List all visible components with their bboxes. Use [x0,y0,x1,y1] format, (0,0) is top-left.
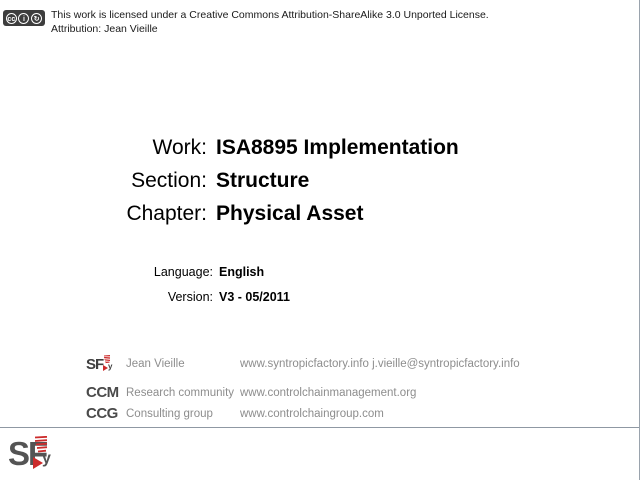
ccg-wordmark: CCG [86,405,118,422]
syntropic-factory-logo: SF y [8,437,56,475]
section-label: Section: [0,169,216,193]
title-block: Work: ISA8895 Implementation Section: St… [0,136,640,235]
sf-logo-y: y [108,362,112,371]
creative-commons-badge: cc i BY ↻ SA [3,10,45,26]
version-value: V3 - 05/2011 [219,290,290,304]
credit-link-ccg[interactable]: www.controlchaingroup.com [240,408,384,420]
cc-icon: cc [6,13,17,24]
sf-logo-small-wrapper: SF y [86,355,120,373]
ccm-wordmark: CCM [86,384,119,401]
sa-icon: ↻ SA [31,13,42,24]
credit-name-jean-vieille: Jean Vieille [120,358,240,370]
license-line-2: Attribution: Jean Vieille [51,22,489,36]
sa-icon-glyph: ↻ [34,16,40,23]
version-label: Version: [0,290,219,304]
ccm-wordmark-wrapper: CCM [86,384,120,401]
meta-block: Language: English Version: V3 - 05/2011 [0,265,640,315]
language-label: Language: [0,265,219,279]
title-row-work: Work: ISA8895 Implementation [0,136,640,160]
license-notice: cc i BY ↻ SA This work is licensed under… [3,8,603,36]
sa-icon-label: SA [32,25,41,30]
meta-row-language: Language: English [0,265,640,279]
sf-logo-icon: SF y [86,355,116,373]
license-text: This work is licensed under a Creative C… [51,8,489,36]
sf-logo-letters: SF [86,356,103,373]
credit-link-syntropicfactory[interactable]: www.syntropicfactory.info j.vieille@synt… [240,358,520,370]
section-value: Structure [216,169,309,193]
language-value: English [219,265,264,279]
sf-big-y: y [42,451,51,467]
credits-block: SF y Jean Vieille www.syntropicfactory.i… [86,353,556,424]
title-row-chapter: Chapter: Physical Asset [0,202,640,226]
work-value: ISA8895 Implementation [216,136,459,160]
chapter-label: Chapter: [0,202,216,226]
credit-name-consulting-group: Consulting group [120,408,240,420]
meta-row-version: Version: V3 - 05/2011 [0,290,640,304]
work-label: Work: [0,136,216,160]
ccg-wordmark-wrapper: CCG [86,405,120,422]
credit-link-ccm[interactable]: www.controlchainmanagement.org [240,387,416,399]
credit-name-research-community: Research community [120,387,240,399]
credit-row-ccm: CCM Research community www.controlchainm… [86,382,556,403]
credit-row-ccg: CCG Consulting group www.controlchaingro… [86,403,556,424]
footer-divider [0,427,639,428]
slide-canvas: cc i BY ↻ SA This work is licensed under… [0,0,640,480]
by-icon-glyph: i [23,16,25,23]
title-row-section: Section: Structure [0,169,640,193]
license-line-1: This work is licensed under a Creative C… [51,8,489,22]
chapter-value: Physical Asset [216,202,363,226]
credit-row-syntropicfactory: SF y Jean Vieille www.syntropicfactory.i… [86,353,556,374]
by-icon: i BY [18,13,29,24]
by-icon-label: BY [19,25,28,30]
